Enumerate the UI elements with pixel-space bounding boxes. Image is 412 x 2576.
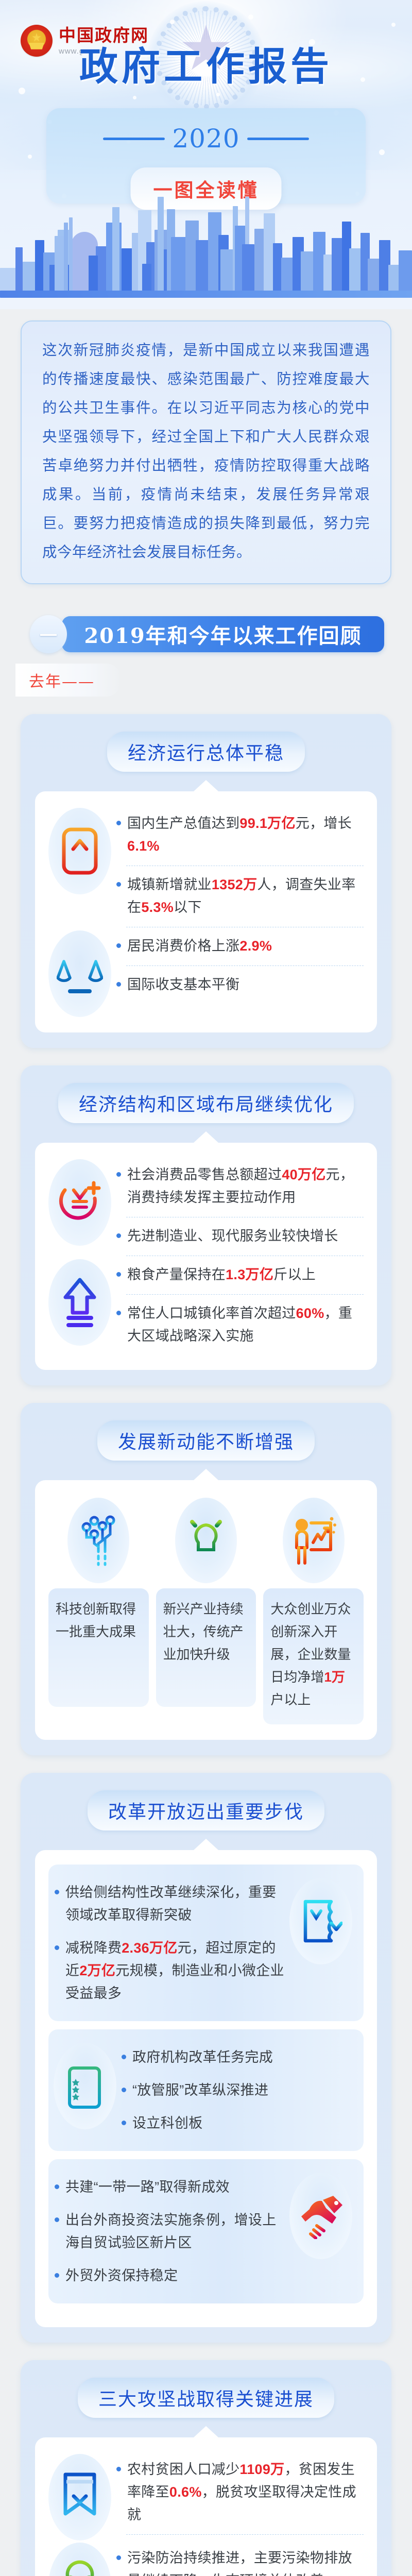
rule-left <box>103 138 165 140</box>
list-item: 污染防治持续推进，主要污染物排放量继续下降，生态环境总体改善 <box>115 2540 364 2576</box>
bullet-dot <box>55 1890 59 1894</box>
list-item: 设立科创板 <box>121 2107 352 2140</box>
section-number: 一 <box>40 622 57 647</box>
item-text: 居民消费价格上涨2.9% <box>127 935 272 957</box>
topic-body: 农村贫困人口减少1109万，贫困发生率降至0.6%，脱贫攻坚取得决定性成就 <box>35 2437 377 2576</box>
topic-body: 供给侧结构性改革继续深化，重要领域改革取得新突破 减税降费2.36万亿元，超过原… <box>35 1850 377 2327</box>
yuan-chart-icon <box>48 1159 111 1246</box>
item-divider <box>126 965 364 966</box>
topic-group: 粮食产量保持在1.3万亿斤以上 常住人口城镇化率首次超过60%，重大区域战略深入… <box>48 1257 364 1354</box>
item-text: 常住人口城镇化率首次超过60%，重大区域战略深入实施 <box>127 1302 363 1347</box>
column-item: 新兴产业持续壮大，传统产业加快升级 <box>156 1498 256 1724</box>
topic-items: 污染防治持续推进，主要污染物排放量继续下降，生态环境总体改善 金融运行总体平稳 <box>115 2540 364 2576</box>
bullet-dot <box>116 1311 121 1315</box>
list-item: 农村贫困人口减少1109万，贫困发生率降至0.6%，脱贫攻坚取得决定性成就 <box>115 2452 364 2533</box>
money-down-icon <box>289 1878 352 1964</box>
hero-banner: 中国政府网 www.gov.cn 2020 政府工作报告 一图全读懂 <box>0 0 412 309</box>
snow-dot <box>216 93 220 96</box>
list-item: 政府机构改革任务完成 <box>121 2041 352 2074</box>
list-item: 外贸外资保持稳定 <box>54 2259 285 2292</box>
pointer-notch <box>194 1469 218 1480</box>
column-text: 科技创新取得一批重大成果 <box>48 1588 149 1707</box>
eco-leaf-bulb-icon <box>48 2543 111 2576</box>
bullet-dot <box>116 943 121 948</box>
list-item: 供给侧结构性改革继续深化，重要领域改革取得新突破 <box>54 1876 285 1931</box>
snow-dot <box>28 155 32 159</box>
topic-card-economy-stable: 经济运行总体平稳 国内生产总值达到99.1万亿元，增长6.1 <box>21 714 391 1048</box>
pointer-notch <box>194 1131 218 1143</box>
rule-right <box>247 138 309 140</box>
item-divider <box>126 1217 364 1217</box>
pointer-notch <box>194 2426 218 2437</box>
bullet-dot <box>55 2273 59 2278</box>
list-item: 共建“一带一路”取得新成效 <box>54 2171 285 2204</box>
three-column-grid: 科技创新取得一批重大成果 <box>48 1498 364 1724</box>
item-text: 国内生产总值达到99.1万亿元，增长6.1% <box>127 812 363 857</box>
site-title: 中国政府网 <box>59 27 149 44</box>
topic-title: 经济运行总体平稳 <box>107 732 305 772</box>
topic-card-new-drivers: 发展新动能不断增强 <box>21 1403 391 1755</box>
topic-group: 供给侧结构性改革继续深化，重要领域改革取得新突破 减税降费2.36万亿元，超过原… <box>54 1876 352 2010</box>
hero-main-title: 政府工作报告 <box>0 47 412 86</box>
intro-section: 这次新冠肺炎疫情，是新中国成立以来我国遭遇的传播速度最快、感染范围最广、防控难度… <box>0 309 412 584</box>
topic-group: 居民消费价格上涨2.9% 国际收支基本平衡 <box>48 928 364 1017</box>
balance-scale-icon <box>48 930 111 1017</box>
item-text: 设立科创板 <box>132 2112 203 2134</box>
snow-dot <box>133 96 136 99</box>
topic-group: 政府机构改革任务完成 “放管服”改革纵深推进 设立科创板 <box>54 2041 352 2140</box>
list-item: 先进制造业、现代服务业较快增长 <box>115 1218 364 1255</box>
bullet-dot <box>116 2467 121 2471</box>
topic-items: 共建“一带一路”取得新成效 出台外商投资法实施条例，增设上海自贸试验区新片区 外… <box>54 2171 285 2292</box>
item-text: “放管服”改革纵深推进 <box>132 2079 268 2102</box>
infographic-page: 中国政府网 www.gov.cn 2020 政府工作报告 一图全读懂 <box>0 0 412 2576</box>
item-divider <box>126 1256 364 1256</box>
item-divider <box>126 927 364 927</box>
topic-items: 农村贫困人口减少1109万，贫困发生率降至0.6%，脱贫攻坚取得决定性成就 <box>115 2452 364 2536</box>
bullet-dot <box>122 2055 126 2059</box>
topic-items: 供给侧结构性改革继续深化，重要领域改革取得新突破 减税降费2.36万亿元，超过原… <box>54 1876 285 2010</box>
list-item: 社会消费品零售总额超过40万亿元，消费持续发挥主要拉动作用 <box>115 1157 364 1216</box>
topic-title: 发展新动能不断增强 <box>97 1420 315 1461</box>
snow-dot <box>248 14 253 20</box>
topic-group: 国内生产总值达到99.1万亿元，增长6.1% 城镇新增就业1352万人，调查失业… <box>48 806 364 928</box>
bullet-dot <box>116 1272 121 1277</box>
topic-body: 国内生产总值达到99.1万亿元，增长6.1% 城镇新增就业1352万人，调查失业… <box>35 791 377 1032</box>
bullet-dot <box>122 2088 126 2092</box>
item-text: 外贸外资保持稳定 <box>65 2264 178 2287</box>
topic-card-three-battles: 三大攻坚战取得关键进展 <box>21 2360 391 2576</box>
section-header: 一 2019年和今年以来工作回顾 <box>15 613 397 655</box>
bullet-dot <box>116 2555 121 2560</box>
topic-card-reform-opening: 改革开放迈出重要步伐 <box>21 1773 391 2343</box>
section-title: 2019年和今年以来工作回顾 <box>62 616 384 652</box>
topic-group: 农村贫困人口减少1109万，贫困发生率降至0.6%，脱贫攻坚取得决定性成就 <box>48 2452 364 2540</box>
item-text: 国际收支基本平衡 <box>127 973 239 996</box>
list-item: 国际收支基本平衡 <box>115 967 364 1003</box>
list-item: 出台外商投资法实施条例，增设上海自贸试验区新片区 <box>54 2204 285 2259</box>
hero-year: 2020 <box>172 126 239 151</box>
reform-panel-3: 共建“一带一路”取得新成效 出台外商投资法实施条例，增设上海自贸试验区新片区 外… <box>48 2159 364 2303</box>
bullet-dot <box>122 2121 126 2125</box>
item-text: 污染防治持续推进，主要污染物排放量继续下降，生态环境总体改善 <box>127 2547 363 2576</box>
item-text: 城镇新增就业1352万人，调查失业率在5.3%以下 <box>127 873 363 919</box>
column-item: 科技创新取得一批重大成果 <box>48 1498 149 1724</box>
reform-panel-1: 供给侧结构性改革继续深化，重要领域改革取得新突破 减税降费2.36万亿元，超过原… <box>48 1865 364 2021</box>
circuit-tech-icon <box>67 1498 129 1583</box>
city-skyline-decor <box>0 190 412 298</box>
item-divider <box>126 2534 364 2535</box>
handshake-icon <box>289 2173 352 2259</box>
bullet-dot <box>116 882 121 887</box>
pointer-notch <box>194 780 218 791</box>
topic-card-structure-optimized: 经济结构和区域布局继续优化 <box>21 1065 391 1385</box>
checklist-icon <box>54 2043 116 2129</box>
list-item: “放管服”改革纵深推进 <box>121 2074 352 2107</box>
bullet-dot <box>116 1233 121 1238</box>
item-text: 出台外商投资法实施条例，增设上海自贸试验区新片区 <box>65 2209 284 2254</box>
year-tag-wrapper: 去年—— <box>15 664 397 697</box>
reform-panel-2: 政府机构改革任务完成 “放管服”改革纵深推进 设立科创板 <box>48 2029 364 2151</box>
list-item: 国内生产总值达到99.1万亿元，增长6.1% <box>115 806 364 865</box>
topic-title: 改革开放迈出重要步伐 <box>88 1790 324 1831</box>
pointer-notch <box>194 1839 218 1850</box>
topic-items: 居民消费价格上涨2.9% 国际收支基本平衡 <box>115 928 364 1003</box>
topic-group: 社会消费品零售总额超过40万亿元，消费持续发挥主要拉动作用 先进制造业、现代服务… <box>48 1157 364 1257</box>
list-item: 常住人口城镇化率首次超过60%，重大区域战略深入实施 <box>115 1296 364 1354</box>
column-item: 大众创业万众创新深入开展，企业数量日均净增1万户以上 <box>263 1498 364 1724</box>
intro-paragraph: 这次新冠肺炎疫情，是新中国成立以来我国遭遇的传播速度最快、感染范围最广、防控难度… <box>42 336 370 567</box>
bullet-dot <box>116 982 121 987</box>
list-item: 居民消费价格上涨2.9% <box>115 928 364 964</box>
item-divider <box>126 1294 364 1295</box>
snow-dot <box>379 149 385 155</box>
item-text: 供给侧结构性改革继续深化，重要领域改革取得新突破 <box>65 1881 284 1926</box>
topic-group: 共建“一带一路”取得新成效 出台外商投资法实施条例，增设上海自贸试验区新片区 外… <box>54 2171 352 2292</box>
lightbulb-icon <box>175 1498 237 1583</box>
section-number-badge: 一 <box>30 615 67 653</box>
person-chart-icon <box>283 1498 345 1583</box>
topic-title: 经济结构和区域布局继续优化 <box>58 1083 354 1123</box>
topic-items: 社会消费品零售总额超过40万亿元，消费持续发挥主要拉动作用 先进制造业、现代服务… <box>115 1157 364 1257</box>
snow-dot <box>170 20 175 24</box>
bullet-dot <box>116 1172 121 1177</box>
topic-group: 污染防治持续推进，主要污染物排放量继续下降，生态环境总体改善 金融运行总体平稳 <box>48 2540 364 2576</box>
item-text: 减税降费2.36万亿元，超过原定的近2万亿元规模，制造业和小微企业受益最多 <box>65 1937 284 2005</box>
item-divider <box>126 866 364 866</box>
topic-items: 国内生产总值达到99.1万亿元，增长6.1% 城镇新增就业1352万人，调查失业… <box>115 806 364 928</box>
column-text: 新兴产业持续壮大，传统产业加快升级 <box>156 1588 256 1707</box>
item-text: 粮食产量保持在1.3万亿斤以上 <box>127 1263 316 1286</box>
item-text: 农村贫困人口减少1109万，贫困发生率降至0.6%，脱贫攻坚取得决定性成就 <box>127 2458 363 2526</box>
item-text: 共建“一带一路”取得新成效 <box>65 2176 230 2198</box>
bullet-dot <box>55 2184 59 2189</box>
snow-dot <box>391 23 396 27</box>
bullet-dot <box>55 2217 59 2222</box>
year-tag: 去年—— <box>15 664 122 697</box>
topic-items: 政府机构改革任务完成 “放管服”改革纵深推进 设立科创板 <box>121 2041 352 2140</box>
item-text: 先进制造业、现代服务业较快增长 <box>127 1225 338 1247</box>
item-text: 政府机构改革任务完成 <box>132 2046 273 2069</box>
hero-year-row: 2020 <box>46 126 366 151</box>
bullet-dot <box>116 821 121 825</box>
topic-body: 科技创新取得一批重大成果 <box>35 1480 377 1740</box>
topic-title: 三大攻坚战取得关键进展 <box>78 2378 334 2418</box>
column-text: 大众创业万众创新深入开展，企业数量日均净增1万户以上 <box>263 1588 364 1724</box>
item-text: 社会消费品零售总额超过40万亿元，消费持续发挥主要拉动作用 <box>127 1163 363 1209</box>
up-arrow-icon <box>48 1259 111 1346</box>
up-arrow-box-icon <box>48 808 111 894</box>
list-item: 粮食产量保持在1.3万亿斤以上 <box>115 1257 364 1293</box>
snow-dot <box>19 88 25 94</box>
down-arrow-ribbon-icon <box>48 2454 111 2540</box>
topic-body: 社会消费品零售总额超过40万亿元，消费持续发挥主要拉动作用 先进制造业、现代服务… <box>35 1143 377 1370</box>
list-item: 城镇新增就业1352万人，调查失业率在5.3%以下 <box>115 867 364 926</box>
topic-items: 粮食产量保持在1.3万亿斤以上 常住人口城镇化率首次超过60%，重大区域战略深入… <box>115 1257 364 1354</box>
bullet-dot <box>55 1945 59 1950</box>
list-item: 减税降费2.36万亿元，超过原定的近2万亿元规模，制造业和小微企业受益最多 <box>54 1931 285 2010</box>
intro-card: 这次新冠肺炎疫情，是新中国成立以来我国遭遇的传播速度最快、感染范围最广、防控难度… <box>21 320 391 584</box>
